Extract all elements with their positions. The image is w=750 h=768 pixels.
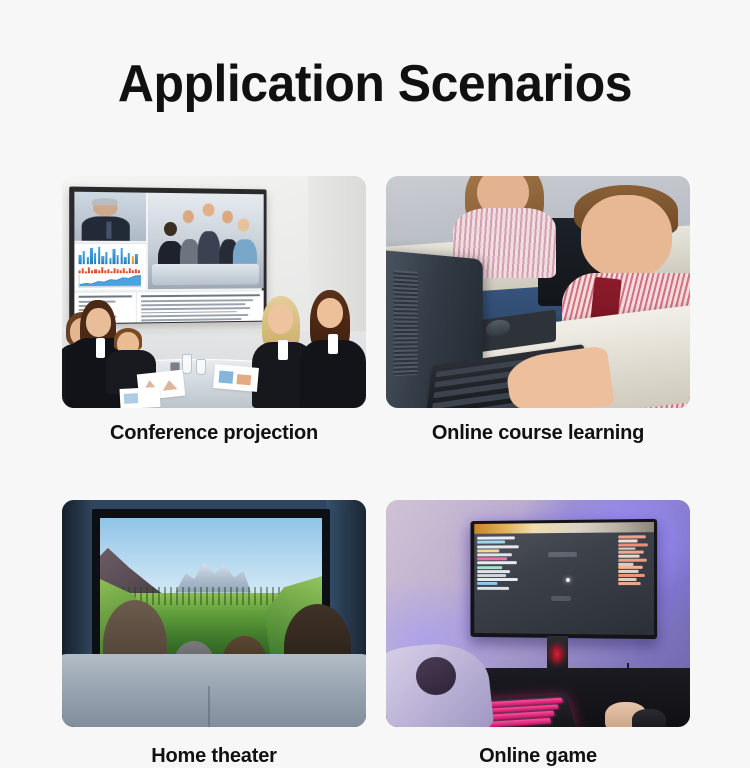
secondary-bar-chart: [79, 266, 142, 274]
player-elbow: [416, 657, 456, 696]
scenario-image-online-game[interactable]: [386, 500, 690, 727]
water-glass-2: [196, 359, 206, 375]
game-screen: [474, 522, 654, 635]
scenario-cell-home-theater: Home theater: [62, 500, 366, 768]
video-panel-group: [148, 193, 264, 289]
chart-panel: [74, 242, 145, 289]
group-head-3: [203, 203, 215, 216]
conference-room-photo: [62, 176, 366, 408]
application-scenarios-page: Application Scenarios: [0, 0, 750, 750]
caption-conference-projection: Conference projection: [62, 422, 366, 445]
game-hud-top: [548, 552, 577, 558]
gaming-mouse: [632, 709, 665, 727]
attendee-right-brunette: [304, 290, 362, 408]
sofa-seat: [62, 654, 366, 727]
scenario-cell-online-course-learning: Online course learning: [386, 176, 690, 445]
sofa-seam: [208, 686, 210, 727]
group-head-4: [223, 211, 233, 223]
scenario-image-online-course-learning[interactable]: [386, 176, 690, 408]
group-head-2: [183, 210, 194, 222]
game-hud-bottom: [552, 597, 572, 602]
scenario-cell-conference-projection: Conference projection: [62, 176, 366, 445]
caption-online-course-learning: Online course learning: [386, 422, 690, 445]
area-chart: [79, 274, 142, 287]
scenario-cell-online-game: Online game: [386, 500, 690, 768]
scenario-image-conference-projection[interactable]: [62, 176, 366, 408]
gaming-monitor: [471, 519, 658, 639]
document-2: [213, 364, 259, 392]
scenario-image-home-theater[interactable]: [62, 500, 366, 727]
group-head-5: [237, 218, 248, 231]
home-theater-photo: [62, 500, 366, 727]
agenda-list-right: [137, 291, 264, 322]
scenario-grid: Conference projection: [62, 176, 690, 768]
portrait-hair: [92, 198, 118, 205]
page-title: Application Scenarios: [15, 58, 735, 110]
game-chat-right: [619, 536, 650, 631]
game-top-hud-bar: [474, 522, 654, 534]
video-panel-portrait: [74, 192, 145, 241]
water-glass-1: [182, 354, 192, 374]
portrait-tie: [107, 222, 112, 238]
group-meeting-table: [152, 264, 259, 285]
group-head-1: [164, 222, 177, 236]
game-chat-left: [478, 537, 524, 630]
game-crosshair: [566, 579, 570, 583]
caption-home-theater: Home theater: [62, 745, 366, 768]
computer-classroom-photo: [386, 176, 690, 408]
document-3: [120, 387, 161, 408]
gaming-setup-photo: [386, 500, 690, 727]
caption-online-game: Online game: [386, 745, 690, 768]
monitor-vent: [394, 270, 418, 376]
bar-chart: [79, 246, 142, 264]
student-boy-head: [581, 195, 672, 279]
